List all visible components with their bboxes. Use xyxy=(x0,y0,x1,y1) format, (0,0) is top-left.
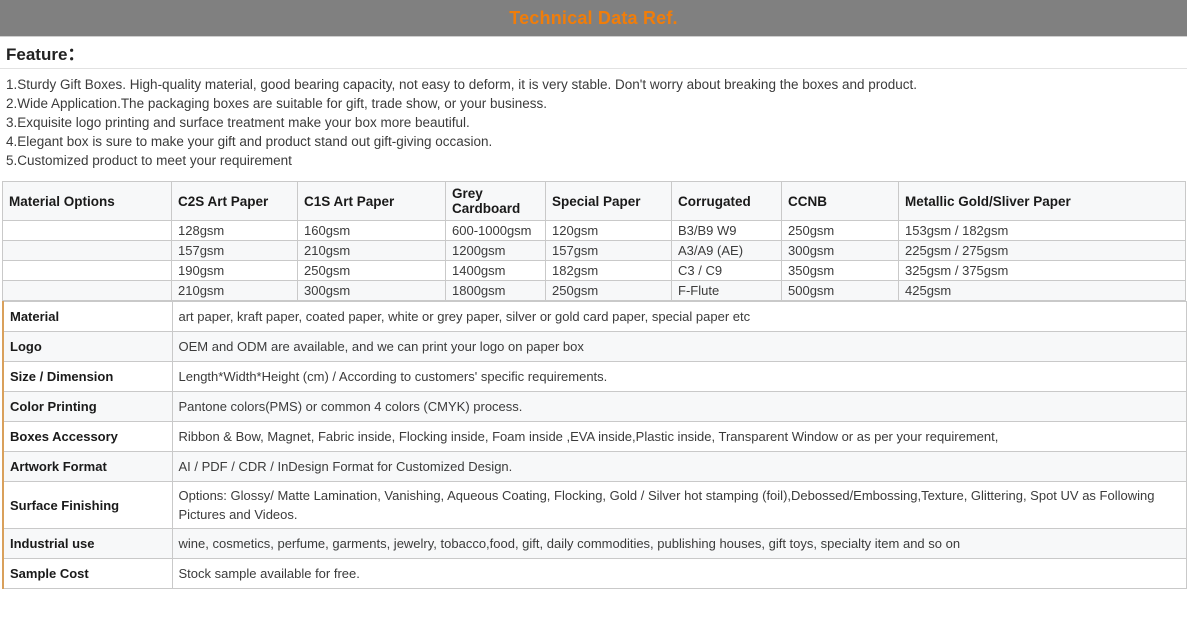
spec-value: Options: Glossy/ Matte Lamination, Vanis… xyxy=(172,482,1186,529)
cell-grey-cardboard: 600-1000gsm xyxy=(446,221,546,241)
cell-corrugated: F-Flute xyxy=(672,281,782,301)
spec-label: Material xyxy=(3,302,172,332)
column-header-material-options: Material Options xyxy=(3,182,172,221)
feature-line: 4.Elegant box is sure to make your gift … xyxy=(6,132,1181,151)
spec-label: Sample Cost xyxy=(3,559,172,589)
cell-c1s-art-paper: 210gsm xyxy=(298,241,446,261)
table-row: 190gsm 250gsm 1400gsm 182gsm C3 / C9 350… xyxy=(3,261,1186,281)
spec-row-material: Material art paper, kraft paper, coated … xyxy=(3,302,1186,332)
spec-value: Length*Width*Height (cm) / According to … xyxy=(172,362,1186,392)
cell-special-paper: 157gsm xyxy=(546,241,672,261)
spec-row-surface-finishing: Surface Finishing Options: Glossy/ Matte… xyxy=(3,482,1186,529)
cell-ccnb: 350gsm xyxy=(782,261,899,281)
cell-c1s-art-paper: 250gsm xyxy=(298,261,446,281)
column-header-metallic-paper: Metallic Gold/Sliver Paper xyxy=(899,182,1186,221)
spec-label: Logo xyxy=(3,332,172,362)
spec-label: Color Printing xyxy=(3,392,172,422)
spec-value: art paper, kraft paper, coated paper, wh… xyxy=(172,302,1186,332)
spec-label: Artwork Format xyxy=(3,452,172,482)
column-header-c1s-art-paper: C1S Art Paper xyxy=(298,182,446,221)
spec-row-industrial-use: Industrial use wine, cosmetics, perfume,… xyxy=(3,529,1186,559)
table-row: 210gsm 300gsm 1800gsm 250gsm F-Flute 500… xyxy=(3,281,1186,301)
spec-row-logo: Logo OEM and ODM are available, and we c… xyxy=(3,332,1186,362)
cell-c2s-art-paper: 128gsm xyxy=(172,221,298,241)
cell-ccnb: 300gsm xyxy=(782,241,899,261)
cell-material-options xyxy=(3,261,172,281)
spec-value: wine, cosmetics, perfume, garments, jewe… xyxy=(172,529,1186,559)
feature-list: 1.Sturdy Gift Boxes. High-quality materi… xyxy=(0,69,1187,174)
feature-line: 5.Customized product to meet your requir… xyxy=(6,151,1181,170)
cell-c2s-art-paper: 157gsm xyxy=(172,241,298,261)
spec-label: Size / Dimension xyxy=(3,362,172,392)
cell-grey-cardboard: 1400gsm xyxy=(446,261,546,281)
spec-label: Industrial use xyxy=(3,529,172,559)
cell-corrugated: A3/A9 (AE) xyxy=(672,241,782,261)
cell-c1s-art-paper: 300gsm xyxy=(298,281,446,301)
spec-value: OEM and ODM are available, and we can pr… xyxy=(172,332,1186,362)
spec-label: Surface Finishing xyxy=(3,482,172,529)
cell-grey-cardboard: 1800gsm xyxy=(446,281,546,301)
cell-c2s-art-paper: 210gsm xyxy=(172,281,298,301)
cell-material-options xyxy=(3,241,172,261)
spec-value: AI / PDF / CDR / InDesign Format for Cus… xyxy=(172,452,1186,482)
table-row: 128gsm 160gsm 600-1000gsm 120gsm B3/B9 W… xyxy=(3,221,1186,241)
cell-c2s-art-paper: 190gsm xyxy=(172,261,298,281)
column-header-corrugated: Corrugated xyxy=(672,182,782,221)
feature-line: 2.Wide Application.The packaging boxes a… xyxy=(6,94,1181,113)
feature-heading-row: Feature： xyxy=(0,37,1187,69)
specification-table: Material art paper, kraft paper, coated … xyxy=(2,301,1187,589)
cell-special-paper: 250gsm xyxy=(546,281,672,301)
column-header-grey-cardboard: Grey Cardboard xyxy=(446,182,546,221)
cell-metallic-paper: 225gsm / 275gsm xyxy=(899,241,1186,261)
page-title: Technical Data Ref. xyxy=(509,9,678,27)
feature-line: 3.Exquisite logo printing and surface tr… xyxy=(6,113,1181,132)
material-options-table: Material Options C2S Art Paper C1S Art P… xyxy=(2,181,1186,301)
cell-ccnb: 500gsm xyxy=(782,281,899,301)
spec-label: Boxes Accessory xyxy=(3,422,172,452)
spec-row-color-printing: Color Printing Pantone colors(PMS) or co… xyxy=(3,392,1186,422)
column-header-c2s-art-paper: C2S Art Paper xyxy=(172,182,298,221)
column-header-ccnb: CCNB xyxy=(782,182,899,221)
spec-row-sample-cost: Sample Cost Stock sample available for f… xyxy=(3,559,1186,589)
table-header-row: Material Options C2S Art Paper C1S Art P… xyxy=(3,182,1186,221)
cell-metallic-paper: 425gsm xyxy=(899,281,1186,301)
cell-metallic-paper: 153gsm / 182gsm xyxy=(899,221,1186,241)
column-header-special-paper: Special Paper xyxy=(546,182,672,221)
spec-value: Pantone colors(PMS) or common 4 colors (… xyxy=(172,392,1186,422)
cell-special-paper: 120gsm xyxy=(546,221,672,241)
feature-heading: Feature： xyxy=(6,40,84,65)
cell-metallic-paper: 325gsm / 375gsm xyxy=(899,261,1186,281)
cell-corrugated: B3/B9 W9 xyxy=(672,221,782,241)
cell-ccnb: 250gsm xyxy=(782,221,899,241)
spec-row-artwork-format: Artwork Format AI / PDF / CDR / InDesign… xyxy=(3,452,1186,482)
spec-row-size-dimension: Size / Dimension Length*Width*Height (cm… xyxy=(3,362,1186,392)
cell-grey-cardboard: 1200gsm xyxy=(446,241,546,261)
table-row: 157gsm 210gsm 1200gsm 157gsm A3/A9 (AE) … xyxy=(3,241,1186,261)
cell-corrugated: C3 / C9 xyxy=(672,261,782,281)
spec-value: Ribbon & Bow, Magnet, Fabric inside, Flo… xyxy=(172,422,1186,452)
cell-material-options xyxy=(3,221,172,241)
technical-data-page: Technical Data Ref. Feature： 1.Sturdy Gi… xyxy=(0,0,1187,620)
spec-value: Stock sample available for free. xyxy=(172,559,1186,589)
cell-material-options xyxy=(3,281,172,301)
cell-c1s-art-paper: 160gsm xyxy=(298,221,446,241)
cell-special-paper: 182gsm xyxy=(546,261,672,281)
feature-line: 1.Sturdy Gift Boxes. High-quality materi… xyxy=(6,75,1181,94)
page-title-bar: Technical Data Ref. xyxy=(0,0,1187,37)
spec-row-boxes-accessory: Boxes Accessory Ribbon & Bow, Magnet, Fa… xyxy=(3,422,1186,452)
